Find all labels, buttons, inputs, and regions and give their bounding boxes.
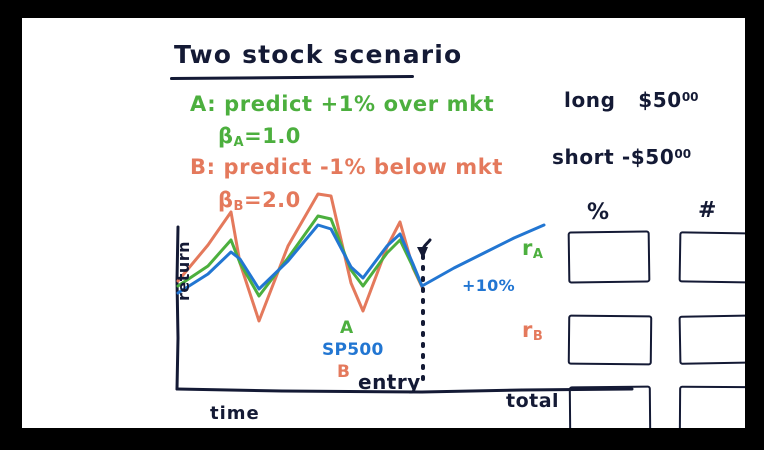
return-chart — [22, 18, 745, 428]
entry-arrow-icon — [417, 240, 430, 259]
series-label-a: A — [340, 318, 354, 338]
series-label-sp500: SP500 — [322, 340, 384, 360]
whiteboard-canvas: Two stock scenario A: predict +1% over m… — [22, 18, 745, 428]
chart-y-axis-label: return — [174, 241, 193, 301]
series-label-b: B — [337, 362, 350, 382]
chart-x-axis-label: time — [210, 403, 260, 424]
projection-label: +10% — [462, 276, 515, 295]
video-frame: Two stock scenario A: predict +1% over m… — [0, 0, 764, 450]
entry-label: entry — [358, 370, 421, 394]
